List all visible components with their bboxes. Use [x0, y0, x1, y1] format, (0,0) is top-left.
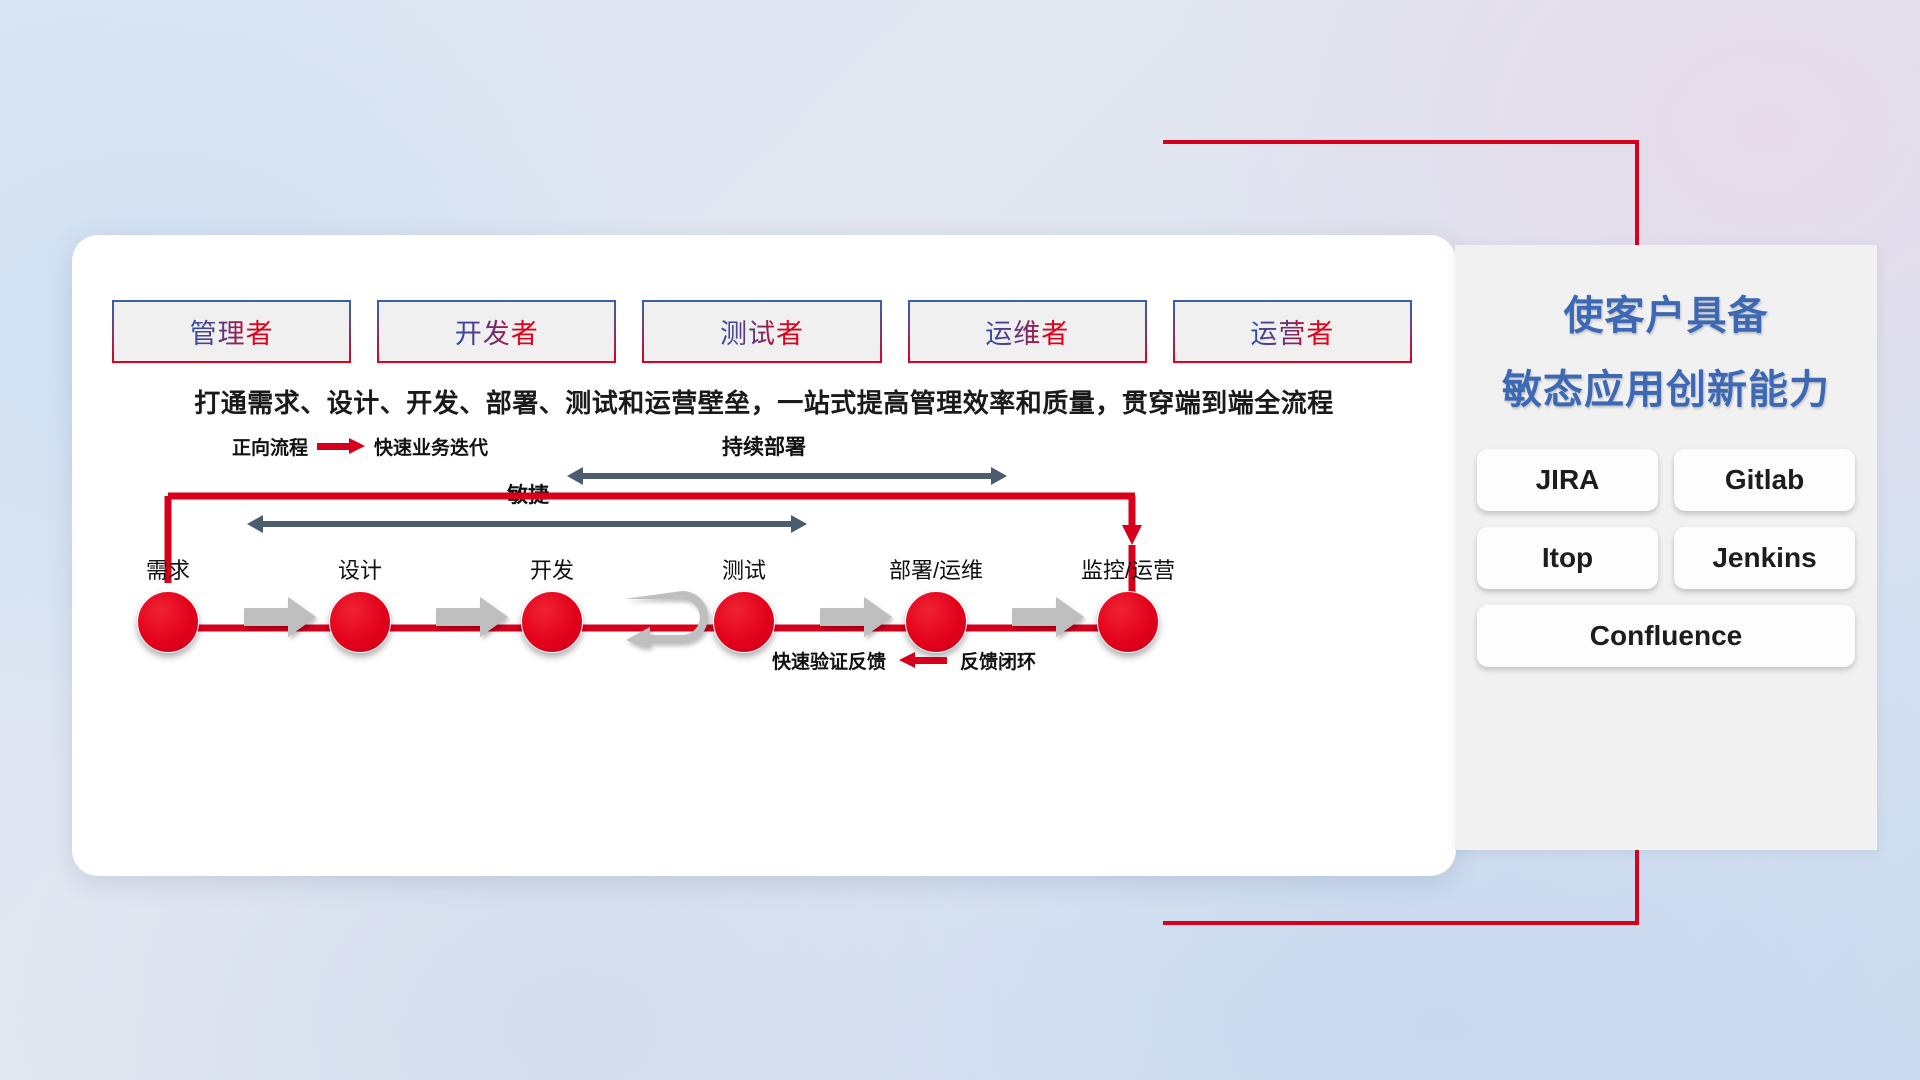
feedback-loop-legend: 快速验证反馈 反馈闭环: [772, 647, 1036, 674]
arrow-head-right-icon: [991, 467, 1007, 485]
stage-dot-icon: [329, 591, 391, 653]
stage-dot-icon: [1097, 591, 1159, 653]
stage-label: 部署/运维: [876, 553, 996, 585]
agile-span-arrow-icon: [247, 515, 807, 533]
panel-title-line2: 敏态应用创新能力: [1455, 357, 1877, 415]
forward-flow-legend: 正向流程 快速业务迭代: [232, 433, 488, 460]
stage-dot-icon: [713, 591, 775, 653]
agile-label: 敏捷: [507, 479, 549, 509]
tool-chip-jira[interactable]: JIRA: [1477, 449, 1658, 511]
panel-title-line1: 使客户具备: [1455, 283, 1877, 341]
continuous-deployment-label: 持续部署: [722, 431, 806, 461]
role-label: 管理者: [190, 312, 274, 351]
arrow-head-right-icon: [791, 515, 807, 533]
stage-label: 需求: [108, 553, 228, 585]
continuous-deployment-span-arrow-icon: [567, 467, 1007, 485]
description-text: 打通需求、设计、开发、部署、测试和运营壁垒，一站式提高管理效率和质量，贯穿端到端…: [72, 383, 1456, 420]
devops-diagram-card: 管理者 开发者 测试者 运维者 运营者 打通需求、设计、开发、部署、测试和运营壁…: [72, 235, 1456, 876]
stage-requirement[interactable]: 需求: [108, 553, 228, 653]
stage-monitor-operate[interactable]: 监控/运营: [1068, 553, 1188, 653]
arrow-head-left-icon: [247, 515, 263, 533]
tool-chip-jenkins[interactable]: Jenkins: [1674, 527, 1855, 589]
roles-row: 管理者 开发者 测试者 运维者 运营者: [112, 300, 1412, 363]
stage-label: 开发: [492, 553, 612, 585]
arrow-bar: [582, 473, 992, 479]
role-label: 运维者: [985, 312, 1069, 351]
stage-dot-icon: [521, 591, 583, 653]
stage-dot-icon: [137, 591, 199, 653]
stage-label: 设计: [300, 553, 420, 585]
tool-chip-gitlab[interactable]: Gitlab: [1674, 449, 1855, 511]
forward-flow-source-label: 正向流程: [232, 433, 308, 460]
stage-testing[interactable]: 测试: [684, 553, 804, 653]
role-box-operations-engineer[interactable]: 运维者: [908, 300, 1147, 363]
role-label: 运营者: [1250, 312, 1334, 351]
arrow-right-red-icon: [317, 438, 365, 455]
feedback-target-label: 快速验证反馈: [772, 647, 886, 674]
role-box-tester[interactable]: 测试者: [642, 300, 881, 363]
stage-development[interactable]: 开发: [492, 553, 612, 653]
stage-label: 测试: [684, 553, 804, 585]
arrow-bar: [262, 521, 792, 527]
tool-chip-itop[interactable]: Itop: [1477, 527, 1658, 589]
tool-chip-confluence[interactable]: Confluence: [1477, 605, 1855, 667]
value-proposition-panel: 使客户具备 敏态应用创新能力 JIRA Gitlab Itop Jenkins …: [1455, 245, 1877, 850]
stage-design[interactable]: 设计: [300, 553, 420, 653]
tool-chip-grid: JIRA Gitlab Itop Jenkins Confluence: [1477, 449, 1855, 667]
stage-dot-icon: [905, 591, 967, 653]
arrow-head-left-icon: [567, 467, 583, 485]
role-box-developer[interactable]: 开发者: [377, 300, 616, 363]
role-label: 开发者: [455, 312, 539, 351]
pipeline-stages: 需求 设计 开发 测试: [108, 553, 1418, 673]
stage-label: 监控/运营: [1068, 553, 1188, 585]
role-label: 测试者: [720, 312, 804, 351]
arrow-left-red-icon: [899, 652, 947, 669]
forward-flow-target-label: 快速业务迭代: [374, 433, 488, 460]
stage-deploy-ops[interactable]: 部署/运维: [876, 553, 996, 653]
feedback-source-label: 反馈闭环: [960, 647, 1036, 674]
role-box-manager[interactable]: 管理者: [112, 300, 351, 363]
role-box-business-operator[interactable]: 运营者: [1173, 300, 1412, 363]
